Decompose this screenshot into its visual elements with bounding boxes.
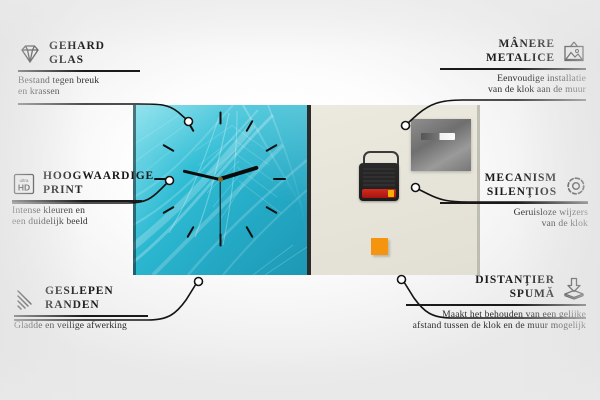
orange-foam-spacer bbox=[371, 238, 388, 255]
feature-title-line1: GEHARD bbox=[49, 40, 105, 54]
feature-rule bbox=[440, 202, 588, 204]
feature-title-line2: METALICE bbox=[486, 52, 555, 66]
feature-mecanism-silentios: MECANISM SILENŢIOS Geruisloze wijzers va… bbox=[440, 172, 588, 229]
feature-rule bbox=[18, 70, 140, 72]
feature-desc-line2: een duidelijk beeld bbox=[12, 216, 162, 227]
feature-header: MECANISM SILENŢIOS bbox=[440, 172, 588, 199]
feature-title-line1: MÂNERE bbox=[486, 38, 555, 52]
ultra-hd-icon: ultra HD bbox=[12, 173, 36, 195]
feature-distantier-spuma: DISTANŢIER SPUMĂ Maakt het behouden van … bbox=[406, 274, 586, 331]
hour-marker bbox=[273, 178, 286, 180]
feature-desc-line2: van de klok aan de muur bbox=[440, 84, 586, 95]
feature-title-line1: DISTANŢIER bbox=[475, 274, 555, 288]
feature-header: MÂNERE METALICE bbox=[440, 38, 586, 65]
gear-icon bbox=[564, 175, 588, 197]
feature-title-line1: GESLEPEN bbox=[45, 285, 114, 299]
feature-title-line1: MECANISM bbox=[485, 172, 557, 186]
feature-desc-line1: Gladde en veilige afwerking bbox=[14, 320, 164, 331]
feature-rule bbox=[14, 315, 148, 317]
feature-title-line2: GLAS bbox=[49, 54, 105, 68]
hour-marker bbox=[219, 112, 221, 125]
feature-manere-metalice: MÂNERE METALICE Eenvoudige installatie v… bbox=[440, 38, 586, 95]
second-hand bbox=[219, 179, 220, 235]
hd-label: HD bbox=[18, 182, 30, 192]
feature-desc-line1: Bestand tegen breuk bbox=[18, 75, 158, 86]
feature-desc-line2: en krassen bbox=[18, 86, 158, 97]
clock-center-pin bbox=[218, 177, 223, 182]
feature-header: DISTANŢIER SPUMĂ bbox=[406, 274, 586, 301]
feature-title-line2: PRINT bbox=[43, 184, 154, 198]
diamond-icon bbox=[18, 43, 42, 65]
feature-rule bbox=[406, 304, 586, 306]
feature-desc-line2: van de klok bbox=[440, 218, 588, 229]
feature-title-line2: SILENŢIOS bbox=[485, 186, 557, 200]
diagonal-lines-icon bbox=[14, 288, 38, 310]
arrow-down-pad-icon bbox=[562, 277, 586, 299]
infographic-canvas: GEHARD GLAS Bestand tegen breuk en krass… bbox=[0, 0, 600, 400]
product-image bbox=[133, 105, 480, 275]
feature-title-line1: HOOGWAARDIGE bbox=[43, 170, 154, 184]
feature-title-line2: SPUMĂ bbox=[475, 288, 555, 302]
feature-title-line2: RANDEN bbox=[45, 299, 114, 313]
mechanism-grill bbox=[363, 168, 395, 188]
feature-geslepen-randen: GESLEPEN RANDEN Gladde en veilige afwerk… bbox=[14, 285, 164, 331]
metal-plate bbox=[411, 119, 471, 171]
feature-desc-line1: Eenvoudige installatie bbox=[440, 73, 586, 84]
feature-header: GESLEPEN RANDEN bbox=[14, 285, 164, 312]
feature-gehard-glas: GEHARD GLAS Bestand tegen breuk en krass… bbox=[18, 40, 158, 97]
feature-desc-line1: Maakt het behouden van een gelijke bbox=[406, 309, 586, 320]
feature-hoogwaardige-print: ultra HD HOOGWAARDIGE PRINT Intense kleu… bbox=[12, 170, 162, 227]
feature-desc-line1: Intense kleuren en bbox=[12, 205, 162, 216]
feature-desc-line1: Geruisloze wijzers bbox=[440, 207, 588, 218]
plate-slot bbox=[421, 133, 455, 140]
feature-header: GEHARD GLAS bbox=[18, 40, 158, 67]
feature-desc-line2: afstand tussen de klok en de muur mogeli… bbox=[406, 320, 586, 331]
feature-rule bbox=[440, 68, 586, 70]
quartz-mechanism bbox=[359, 163, 399, 201]
feature-rule bbox=[12, 200, 142, 202]
feature-header: ultra HD HOOGWAARDIGE PRINT bbox=[12, 170, 162, 197]
battery bbox=[362, 189, 396, 198]
picture-frame-hanger-icon bbox=[562, 41, 586, 63]
battery-plus-terminal bbox=[388, 190, 394, 197]
